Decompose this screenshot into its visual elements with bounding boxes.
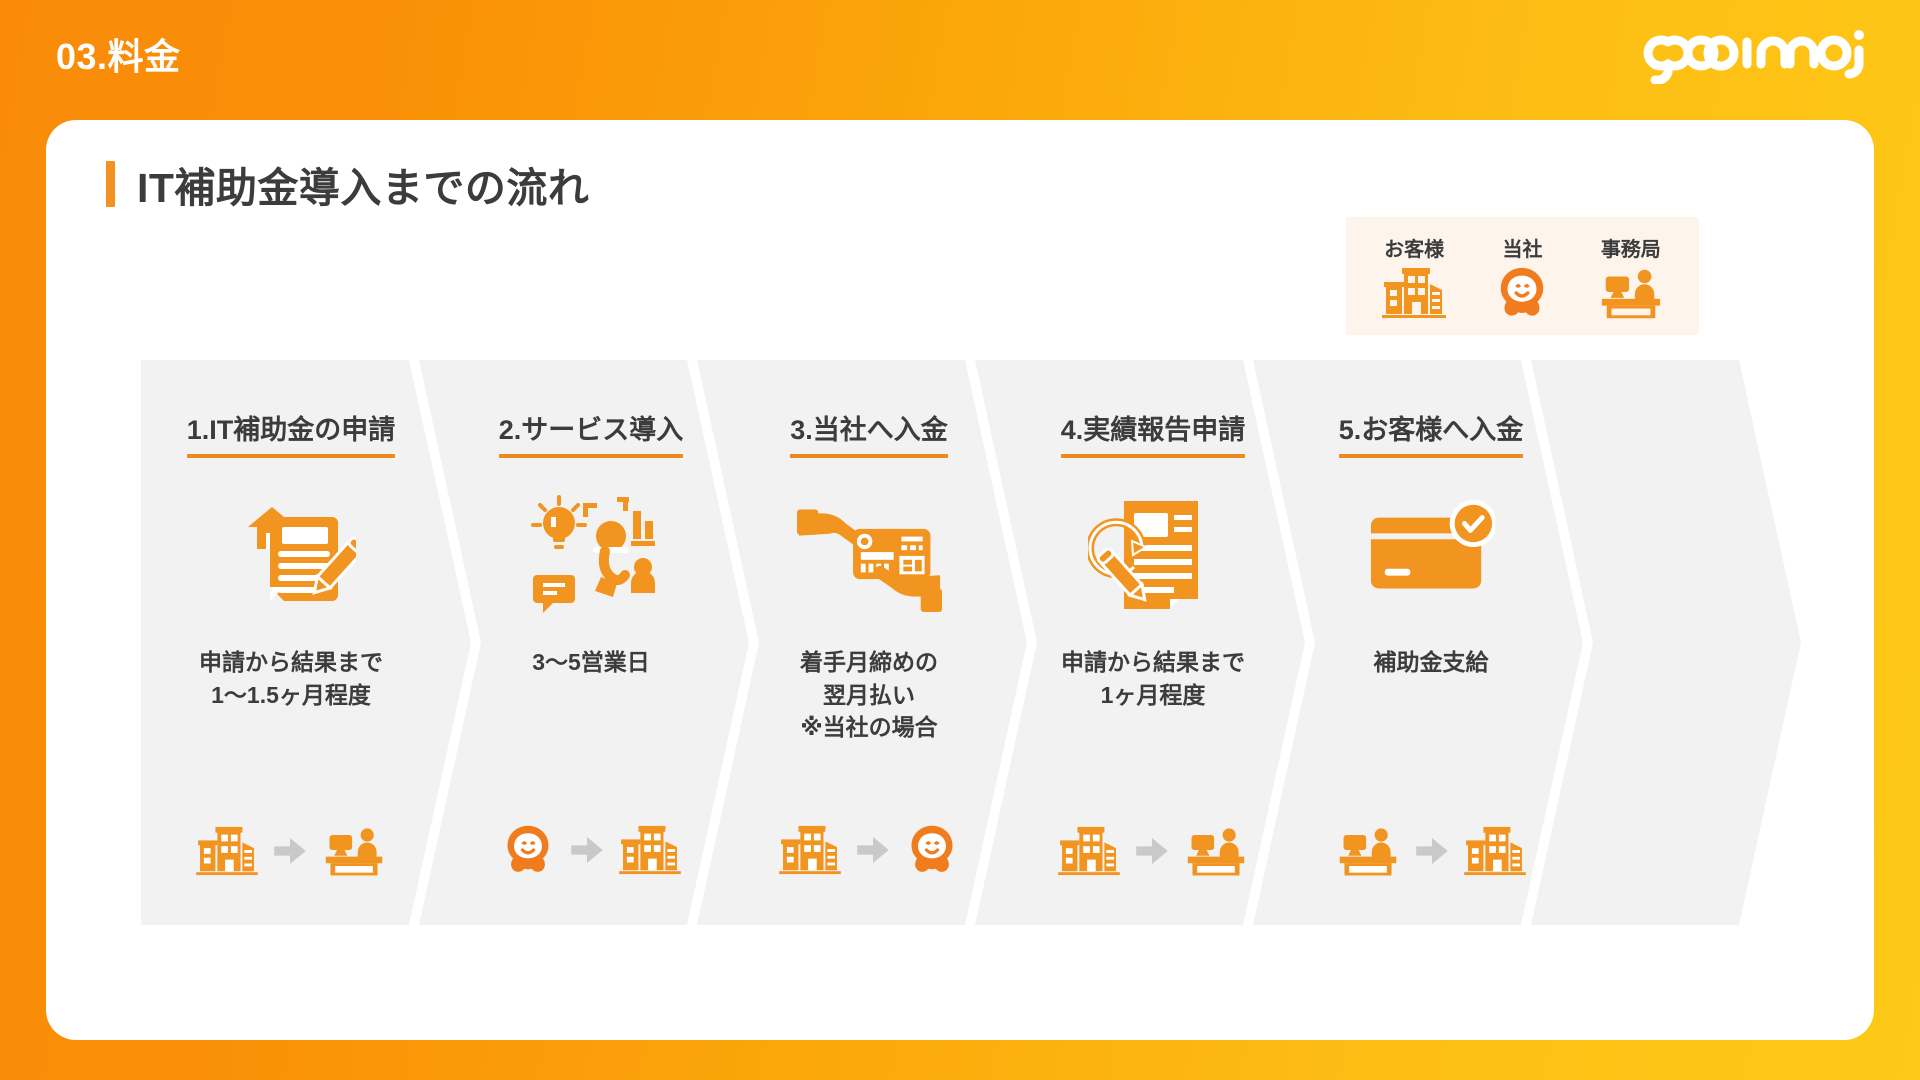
mascot-icon <box>501 823 555 877</box>
legend-item-customer: お客様 <box>1362 233 1466 320</box>
legend-label: 事務局 <box>1601 233 1661 262</box>
building-icon <box>779 824 841 876</box>
title-accent-bar <box>106 161 115 207</box>
reception-desk-icon <box>322 825 386 877</box>
actor-legend: お客様 <box>1346 217 1699 335</box>
flow-step-1[interactable]: 1.IT補助金の申請 <box>141 360 441 925</box>
step-description: 補助金支給 <box>1374 646 1489 679</box>
step-title: 5.お客様へ入金 <box>1339 408 1524 458</box>
flow-step-3[interactable]: 3.当社へ入金 <box>719 360 1019 925</box>
step-description: 着手月締めの 翌月払い ※当社の場合 <box>800 646 938 744</box>
building-icon <box>619 824 681 876</box>
reception-desk-icon <box>1598 266 1664 320</box>
process-flow: 1.IT補助金の申請 <box>141 360 1801 925</box>
mascot-icon <box>905 823 959 877</box>
step-actor-flow <box>779 823 959 877</box>
legend-label: 当社 <box>1502 233 1542 262</box>
mascot-icon <box>1494 266 1550 320</box>
step-title: 3.当社へ入金 <box>790 408 948 458</box>
step-actor-flow <box>196 825 386 877</box>
flow-step-4[interactable]: 4.実績報告申請 <box>1003 360 1303 925</box>
legend-item-secretariat: 事務局 <box>1579 233 1683 320</box>
reception-desk-icon <box>1184 825 1248 877</box>
report-pencil-icon <box>1088 484 1218 624</box>
step-title: 1.IT補助金の申請 <box>187 408 396 458</box>
reception-desk-icon <box>1336 825 1400 877</box>
step-title: 2.サービス導入 <box>499 408 684 458</box>
arrow-right-icon <box>1136 838 1168 864</box>
hands-payment-icon <box>797 484 942 624</box>
goonooi-logo <box>1638 22 1868 84</box>
legend-item-company: 当社 <box>1470 233 1574 320</box>
building-icon <box>1464 825 1526 877</box>
arrow-right-icon <box>274 838 306 864</box>
step-actor-flow <box>1058 825 1248 877</box>
step-actor-flow <box>1336 825 1526 877</box>
step-actor-flow <box>501 823 681 877</box>
page-title: IT補助金導入までの流れ <box>137 154 589 214</box>
arrow-right-icon <box>571 837 603 863</box>
building-icon <box>1382 266 1446 320</box>
building-icon <box>196 825 258 877</box>
arrow-right-icon <box>857 837 889 863</box>
flow-step-5[interactable]: 5.お客様へ入金 補助金支給 <box>1281 360 1581 925</box>
step-description: 申請から結果まで 1〜1.5ヶ月程度 <box>199 646 383 711</box>
document-pencil-house-icon <box>226 484 356 624</box>
card-check-icon <box>1367 484 1495 624</box>
arrow-right-icon <box>1416 838 1448 864</box>
flow-step-2[interactable]: 2.サービス導入 <box>441 360 741 925</box>
service-idea-icon <box>521 484 661 624</box>
slide-header: 03.料金 <box>0 0 1920 104</box>
step-description: 3〜5営業日 <box>532 646 650 679</box>
legend-label: お客様 <box>1384 233 1444 262</box>
section-label: 03.料金 <box>56 28 181 80</box>
card-title-row: IT補助金導入までの流れ <box>106 154 589 214</box>
step-description: 申請から結果まで 1ヶ月程度 <box>1061 646 1245 711</box>
content-card: IT補助金導入までの流れ お客様 <box>46 120 1874 1040</box>
step-title: 4.実績報告申請 <box>1061 408 1246 458</box>
building-icon <box>1058 825 1120 877</box>
